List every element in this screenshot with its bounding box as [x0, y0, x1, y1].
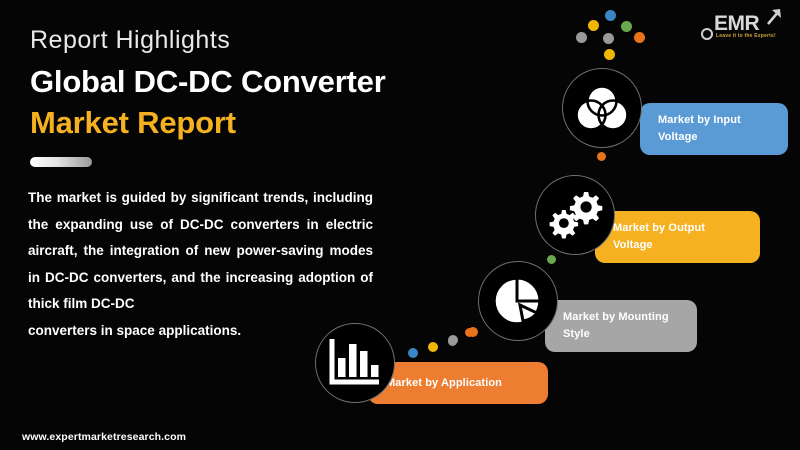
connector-dot-trail-gray [448, 335, 458, 345]
connector-dot-trail-orange [468, 327, 478, 337]
logo-tagline: Leave it to the Experts! [716, 33, 776, 39]
logo-arrow-icon [762, 6, 784, 28]
connector-dot-orange-1 [597, 152, 606, 161]
venn-diagram-icon [576, 84, 628, 132]
dot-gray-left [576, 32, 587, 43]
step-icon-circle-output-voltage[interactable] [535, 175, 615, 255]
step-pill-input-voltage[interactable]: Market by Input Voltage [640, 103, 788, 155]
dot-orange [634, 32, 645, 43]
connector-dot-trail-yellow [428, 342, 438, 352]
bar-chart-icon [327, 336, 383, 390]
footer-url[interactable]: www.expertmarketresearch.com [22, 431, 186, 443]
connector-dot-green-1 [547, 255, 556, 264]
step-label-application: Market by Application [386, 375, 502, 392]
step-label-mounting-style-line1: Market by Mounting [563, 309, 669, 326]
report-highlights-slide: Report Highlights Global DC-DC Converter… [0, 0, 800, 450]
highlights-paragraph-text: The market is guided by significant tren… [28, 190, 373, 311]
step-label-mounting-style-line2: Style [563, 326, 590, 343]
logo-ring-icon [701, 28, 713, 40]
step-pill-mounting-style[interactable]: Market by Mounting Style [545, 300, 697, 352]
highlights-paragraph: The market is guided by significant tren… [28, 185, 373, 344]
step-icon-circle-mounting-style[interactable] [478, 261, 558, 341]
step-icon-circle-application[interactable] [315, 323, 395, 403]
dot-green [621, 21, 632, 32]
emr-logo[interactable]: EMR Leave it to the Experts! [694, 6, 786, 46]
dot-yellow-left [588, 20, 599, 31]
page-title-line2: Market Report [30, 105, 236, 141]
pie-chart-icon [490, 273, 546, 329]
page-kicker: Report Highlights [30, 26, 230, 55]
connector-dot-trail-blue [408, 348, 418, 358]
step-pill-application[interactable]: Market by Application [368, 362, 548, 404]
step-pill-output-voltage[interactable]: Market by Output Voltage [595, 211, 760, 263]
page-title-line1: Global DC-DC Converter [30, 64, 386, 100]
decorative-dot-cluster [575, 4, 647, 60]
dot-blue [605, 10, 616, 21]
step-label-output-voltage-line1: Market by Output [613, 220, 705, 237]
step-label-input-voltage-line1: Market by Input [658, 112, 741, 129]
gears-icon [547, 188, 603, 242]
step-label-input-voltage-line2: Voltage [658, 129, 698, 146]
step-icon-circle-input-voltage[interactable] [562, 68, 642, 148]
dot-yellow-bottom [604, 49, 615, 60]
title-divider [30, 157, 92, 167]
step-label-output-voltage-line2: Voltage [613, 237, 653, 254]
dot-gray-center [603, 33, 614, 44]
